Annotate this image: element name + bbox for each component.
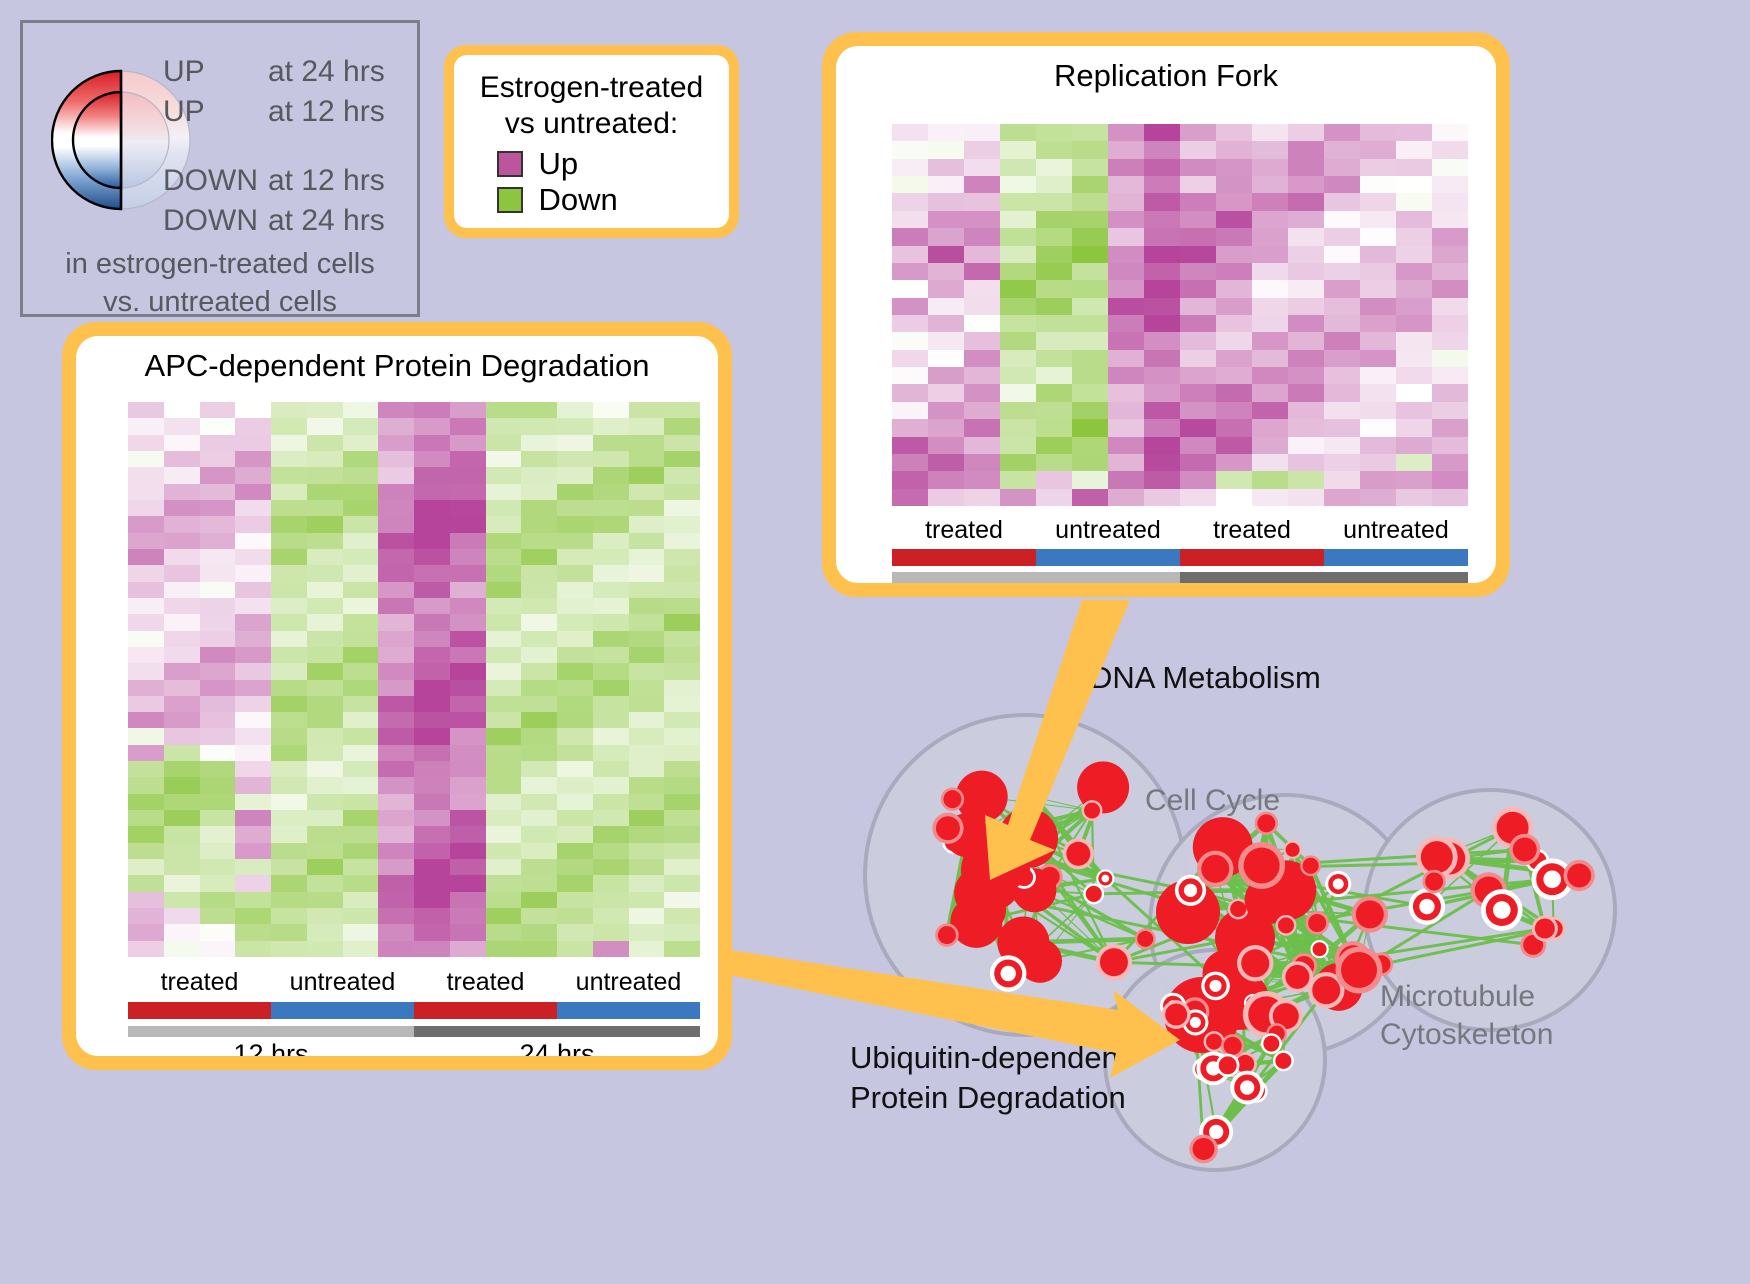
heatmap-cell — [964, 263, 1000, 280]
heatmap-cell — [164, 663, 200, 679]
down-color-swatch — [497, 187, 523, 213]
heatmap-cell — [1432, 228, 1468, 245]
network-node — [1244, 847, 1280, 883]
timepoint-colorbar-apc — [128, 1026, 700, 1037]
network-node — [1084, 802, 1100, 818]
heatmap-cell — [343, 745, 379, 761]
heatmap-cell — [521, 663, 557, 679]
heatmap-cell — [164, 941, 200, 957]
heatmap-cell — [1216, 211, 1252, 228]
heatmap-cell — [1180, 280, 1216, 297]
heatmap-cell — [271, 859, 307, 875]
heatmap-cell — [1396, 419, 1432, 436]
legend-row-down-12: DOWNat 12 hrs — [163, 164, 385, 198]
heatmap-cell — [1036, 437, 1072, 454]
heatmap-cell — [664, 712, 700, 728]
heatmap-cell — [664, 892, 700, 908]
heatmap-cell — [1396, 176, 1432, 193]
heatmap-cell — [1180, 350, 1216, 367]
heatmap-cell — [235, 500, 271, 516]
heatmap-cell — [128, 728, 164, 744]
heatmap-cell — [414, 696, 450, 712]
heatmap-cell — [557, 924, 593, 940]
heatmap-cell — [1144, 141, 1180, 158]
network-node — [1286, 843, 1300, 857]
heatmap-cell — [128, 826, 164, 842]
heatmap-cell — [343, 533, 379, 549]
heatmap-cell — [271, 467, 307, 483]
heatmap-cell — [521, 712, 557, 728]
heatmap-cell — [1252, 437, 1288, 454]
heatmap-cell — [1252, 489, 1288, 506]
legend-footer-line1: in estrogen-treated cells — [23, 245, 417, 283]
heatmap-cell — [1324, 384, 1360, 401]
heatmap-cell — [343, 859, 379, 875]
heatmap-cell — [378, 549, 414, 565]
heatmap-cell — [521, 549, 557, 565]
heatmap-cell — [307, 810, 343, 826]
heatmap-cell — [128, 761, 164, 777]
heatmap-cell — [200, 451, 236, 467]
heatmap-cell — [450, 761, 486, 777]
heatmap-cell — [664, 794, 700, 810]
heatmap-cell — [892, 384, 928, 401]
heatmap-cell — [1144, 228, 1180, 245]
heatmap-cell — [200, 924, 236, 940]
heatmap-cell — [307, 680, 343, 696]
heatmap-cell — [629, 647, 665, 663]
key-item-up: Up — [497, 146, 687, 182]
network-node-center — [1101, 875, 1109, 883]
heatmap-cell — [1360, 402, 1396, 419]
heatmap-cell — [1036, 471, 1072, 488]
heatmap-cell — [200, 892, 236, 908]
heatmap-cell — [892, 228, 928, 245]
heatmap-cell — [1144, 315, 1180, 332]
heatmap-cell — [629, 435, 665, 451]
heatmap-cell — [307, 728, 343, 744]
heatmap-cell — [928, 193, 964, 210]
heatmap-cell — [1324, 176, 1360, 193]
heatmap-cell — [593, 777, 629, 793]
heatmap-cell — [1432, 280, 1468, 297]
heatmap-cell — [307, 533, 343, 549]
heatmap-cell — [1144, 124, 1180, 141]
heatmap-cell — [593, 794, 629, 810]
heatmap-cell — [664, 875, 700, 891]
heatmap-cell — [928, 437, 964, 454]
network-node — [1263, 1036, 1279, 1052]
heatmap-cell — [1072, 384, 1108, 401]
heatmap-cell — [1252, 402, 1288, 419]
heatmap-cell — [486, 892, 522, 908]
panel-replication-fork: Replication Fork treated untreated treat… — [822, 32, 1510, 597]
heatmap-cell — [1216, 471, 1252, 488]
heatmap-cell — [1036, 454, 1072, 471]
heatmap-cell — [307, 467, 343, 483]
heatmap-cell — [1180, 124, 1216, 141]
heatmap-cell — [1216, 141, 1252, 158]
heatmap-cell — [521, 908, 557, 924]
heatmap-cell — [1108, 454, 1144, 471]
heatmap-cell — [235, 859, 271, 875]
heatmap-cell — [200, 761, 236, 777]
key-title: Estrogen-treated vs untreated: — [480, 70, 703, 142]
heatmap-cell — [664, 516, 700, 532]
heatmap-cell — [1072, 454, 1108, 471]
heatmap-cell — [1396, 124, 1432, 141]
heatmap-cell — [1216, 280, 1252, 297]
heatmap-cell — [486, 761, 522, 777]
heatmap-cell — [1252, 211, 1288, 228]
condition-bar-untreated — [1324, 549, 1468, 566]
heatmap-cell — [664, 777, 700, 793]
heatmap-cell — [1432, 263, 1468, 280]
heatmap-cell — [1072, 332, 1108, 349]
legend-state-label: UP — [163, 55, 268, 89]
heatmap-cell — [378, 941, 414, 957]
heatmap-cell — [450, 435, 486, 451]
heatmap-cell — [521, 614, 557, 630]
heatmap-cell — [235, 924, 271, 940]
heatmap-cell — [629, 859, 665, 875]
heatmap-cell — [450, 712, 486, 728]
heatmap-cell — [521, 696, 557, 712]
network-node — [1341, 952, 1377, 988]
heatmap-cell — [1432, 211, 1468, 228]
heatmap-cell — [1288, 298, 1324, 315]
heatmap-cell — [486, 614, 522, 630]
heatmap-cell — [1180, 246, 1216, 263]
heatmap-cell — [486, 484, 522, 500]
heatmap-cell — [378, 500, 414, 516]
heatmap-cell — [964, 350, 1000, 367]
heatmap-cell — [343, 500, 379, 516]
heatmap-cell — [1396, 193, 1432, 210]
heatmap-cell — [128, 712, 164, 728]
heatmap-cell — [128, 647, 164, 663]
heatmap-cell — [521, 843, 557, 859]
heatmap-cell — [1396, 489, 1432, 506]
heatmap-cell — [450, 663, 486, 679]
heatmap-cell — [593, 484, 629, 500]
heatmap-cell — [664, 941, 700, 957]
heatmap-cell — [629, 843, 665, 859]
heatmap-cell — [1324, 419, 1360, 436]
heatmap-cell — [964, 437, 1000, 454]
heatmap-cell — [343, 810, 379, 826]
heatmap-cell — [450, 941, 486, 957]
heatmap-cell — [892, 176, 928, 193]
heatmap-cell — [271, 826, 307, 842]
heatmap-cell — [164, 892, 200, 908]
heatmap-cell — [1360, 419, 1396, 436]
heatmap-cell — [593, 533, 629, 549]
heatmap-cell — [200, 875, 236, 891]
legend-time-label: at 24 hrs — [268, 55, 385, 89]
heatmap-cell — [1288, 141, 1324, 158]
heatmap-cell — [1360, 384, 1396, 401]
heatmap-cell — [629, 696, 665, 712]
cluster-label-ubiquitin-degradation: Ubiquitin-dependent Protein Degradation — [850, 1038, 1128, 1118]
heatmap-cell — [664, 467, 700, 483]
heatmap-cell — [1144, 384, 1180, 401]
heatmap-cell — [557, 777, 593, 793]
heatmap-cell — [928, 350, 964, 367]
heatmap-cell — [928, 384, 964, 401]
heatmap-cell — [557, 794, 593, 810]
heatmap-cell — [307, 826, 343, 842]
heatmap-cell — [378, 565, 414, 581]
heatmap-cell — [1396, 350, 1432, 367]
heatmap-cell — [450, 745, 486, 761]
heatmap-cell — [1432, 246, 1468, 263]
heatmap-cell — [557, 892, 593, 908]
heatmap-cell — [521, 892, 557, 908]
heatmap-cell — [1036, 228, 1072, 245]
heatmap-cell — [557, 484, 593, 500]
heatmap-cell — [664, 663, 700, 679]
heatmap-cell — [128, 484, 164, 500]
heatmap-cell — [521, 516, 557, 532]
heatmap-cell — [1216, 159, 1252, 176]
heatmap-cell — [928, 176, 964, 193]
heatmap-cell — [271, 402, 307, 418]
heatmap-cell — [307, 892, 343, 908]
heatmap-cell — [378, 598, 414, 614]
heatmap-cell — [378, 647, 414, 663]
heatmap-cell — [378, 892, 414, 908]
heatmap-cell — [629, 418, 665, 434]
heatmap-cell — [1036, 280, 1072, 297]
heatmap-cell — [557, 941, 593, 957]
heatmap-cell — [964, 384, 1000, 401]
heatmap-cell — [521, 680, 557, 696]
heatmap-cell — [200, 500, 236, 516]
heatmap-cell — [200, 647, 236, 663]
heatmap-cell — [1216, 489, 1252, 506]
heatmap-cell — [521, 745, 557, 761]
heatmap-cell — [200, 663, 236, 679]
heatmap-cell — [450, 680, 486, 696]
heatmap-cell — [964, 402, 1000, 419]
network-node — [1285, 965, 1309, 989]
heatmap-cell — [1216, 350, 1252, 367]
legend-state-label: UP — [163, 95, 268, 129]
heatmap-cell — [164, 467, 200, 483]
heatmap-cell — [1180, 454, 1216, 471]
heatmap-cell — [378, 908, 414, 924]
network-node — [1275, 1053, 1291, 1069]
heatmap-cell — [1396, 246, 1432, 263]
heatmap-cell — [892, 437, 928, 454]
heatmap-cell — [343, 728, 379, 744]
heatmap-cell — [928, 298, 964, 315]
heatmap-cell — [1252, 367, 1288, 384]
heatmap-cell — [1072, 471, 1108, 488]
heatmap-cell — [1288, 263, 1324, 280]
heatmap-cell — [1000, 419, 1036, 436]
heatmap-cell — [271, 484, 307, 500]
heatmap-cell — [235, 582, 271, 598]
heatmap-cell — [1252, 298, 1288, 315]
heatmap-cell — [235, 712, 271, 728]
network-node-center — [1493, 901, 1511, 919]
condition-label: untreated — [271, 968, 414, 997]
heatmap-cell — [1324, 454, 1360, 471]
heatmap-cell — [664, 549, 700, 565]
heatmap-cell — [1288, 471, 1324, 488]
heatmap-cell — [593, 582, 629, 598]
timepoint-bar-12hrs — [128, 1026, 414, 1037]
heatmap-cell — [892, 419, 928, 436]
heatmap-cell — [343, 924, 379, 940]
heatmap-cell — [928, 489, 964, 506]
heatmap-cell — [964, 193, 1000, 210]
heatmap-cell — [450, 582, 486, 598]
heatmap-cell — [1108, 384, 1144, 401]
heatmap-cell — [164, 614, 200, 630]
heatmap-cell — [450, 598, 486, 614]
heatmap-cell — [664, 728, 700, 744]
heatmap-cell — [1288, 315, 1324, 332]
heatmap-cell — [200, 680, 236, 696]
heatmap-cell — [1144, 367, 1180, 384]
heatmap-cell — [593, 908, 629, 924]
heatmap-cell — [1108, 350, 1144, 367]
heatmap-cell — [164, 777, 200, 793]
heatmap-cell — [486, 451, 522, 467]
heatmap-cell — [928, 124, 964, 141]
heatmap-cell — [307, 712, 343, 728]
heatmap-cell — [414, 924, 450, 940]
heatmap-cell — [521, 728, 557, 744]
network-node — [1421, 841, 1453, 873]
heatmap-cell — [378, 875, 414, 891]
heatmap-cell — [1000, 489, 1036, 506]
heatmap-cell — [557, 402, 593, 418]
heatmap-cell — [892, 193, 928, 210]
heatmap-cell — [271, 663, 307, 679]
heatmap-cell — [928, 471, 964, 488]
heatmap-cell — [128, 892, 164, 908]
heatmap-cell — [307, 631, 343, 647]
heatmap-cell — [557, 712, 593, 728]
heatmap-cell — [235, 435, 271, 451]
heatmap-cell — [1072, 489, 1108, 506]
heatmap-cell — [343, 875, 379, 891]
heatmap-cell — [200, 843, 236, 859]
heatmap-cell — [414, 712, 450, 728]
network-node — [1356, 900, 1384, 928]
heatmap-cell — [128, 810, 164, 826]
heatmap-cell — [1288, 419, 1324, 436]
heatmap-cell — [235, 614, 271, 630]
heatmap-cell — [307, 908, 343, 924]
heatmap-cell — [307, 777, 343, 793]
heatmap-cell — [629, 484, 665, 500]
heatmap-cell — [164, 516, 200, 532]
heatmap-cell — [557, 467, 593, 483]
heatmap-cell — [928, 315, 964, 332]
heatmap-cell — [928, 263, 964, 280]
heatmap-cell — [128, 565, 164, 581]
heatmap-cell — [450, 451, 486, 467]
heatmap-cell — [1432, 315, 1468, 332]
heatmap-cell — [964, 367, 1000, 384]
heatmap-cell — [1144, 489, 1180, 506]
heatmap-cell — [271, 582, 307, 598]
heatmap-cell — [486, 826, 522, 842]
heatmap-cell — [1288, 437, 1324, 454]
heatmap-cell — [1108, 124, 1144, 141]
heatmap-cell — [200, 826, 236, 842]
heatmap-cell — [964, 141, 1000, 158]
heatmap-cell — [378, 745, 414, 761]
heatmap-cell — [557, 598, 593, 614]
heatmap-cell — [593, 663, 629, 679]
heatmap-cell — [414, 451, 450, 467]
heatmap-cell — [200, 484, 236, 500]
heatmap-cell — [164, 826, 200, 842]
heatmap-cell — [343, 696, 379, 712]
heatmap-cell — [414, 402, 450, 418]
heatmap-cell — [664, 598, 700, 614]
heatmap-cell — [664, 680, 700, 696]
heatmap-cell — [486, 549, 522, 565]
heatmap-cell — [557, 647, 593, 663]
heatmap-cell — [1108, 471, 1144, 488]
heatmap-cell — [593, 435, 629, 451]
condition-colorbar-apc — [128, 1002, 700, 1019]
heatmap-cell — [629, 467, 665, 483]
heatmap-cell — [521, 500, 557, 516]
heatmap-cell — [271, 875, 307, 891]
heatmap-cell — [664, 451, 700, 467]
key-title-line2: vs untreated: — [480, 106, 703, 142]
heatmap-cell — [1000, 454, 1036, 471]
heatmap-cell — [1072, 263, 1108, 280]
heatmap-cell — [1432, 454, 1468, 471]
heatmap-cell — [164, 647, 200, 663]
heatmap-cell — [964, 315, 1000, 332]
condition-bar-treated — [892, 549, 1036, 566]
heatmap-cell — [378, 663, 414, 679]
heatmap-apc-degradation — [128, 402, 700, 957]
heatmap-cell — [1108, 246, 1144, 263]
heatmap-cell — [414, 728, 450, 744]
heatmap-cell — [378, 614, 414, 630]
heatmap-cell — [414, 435, 450, 451]
heatmap-cell — [521, 631, 557, 647]
heatmap-cell — [1072, 193, 1108, 210]
heatmap-cell — [928, 367, 964, 384]
heatmap-cell — [521, 451, 557, 467]
heatmap-cell — [486, 712, 522, 728]
heatmap-cell — [1036, 246, 1072, 263]
heatmap-cell — [892, 402, 928, 419]
heatmap-cell — [1180, 384, 1216, 401]
heatmap-cell — [414, 516, 450, 532]
heatmap-cell — [486, 533, 522, 549]
heatmap-cell — [521, 402, 557, 418]
heatmap-cell — [593, 826, 629, 842]
heatmap-cell — [1360, 315, 1396, 332]
heatmap-cell — [928, 402, 964, 419]
heatmap-cell — [271, 614, 307, 630]
heatmap-cell — [1144, 176, 1180, 193]
heatmap-cell — [1288, 159, 1324, 176]
